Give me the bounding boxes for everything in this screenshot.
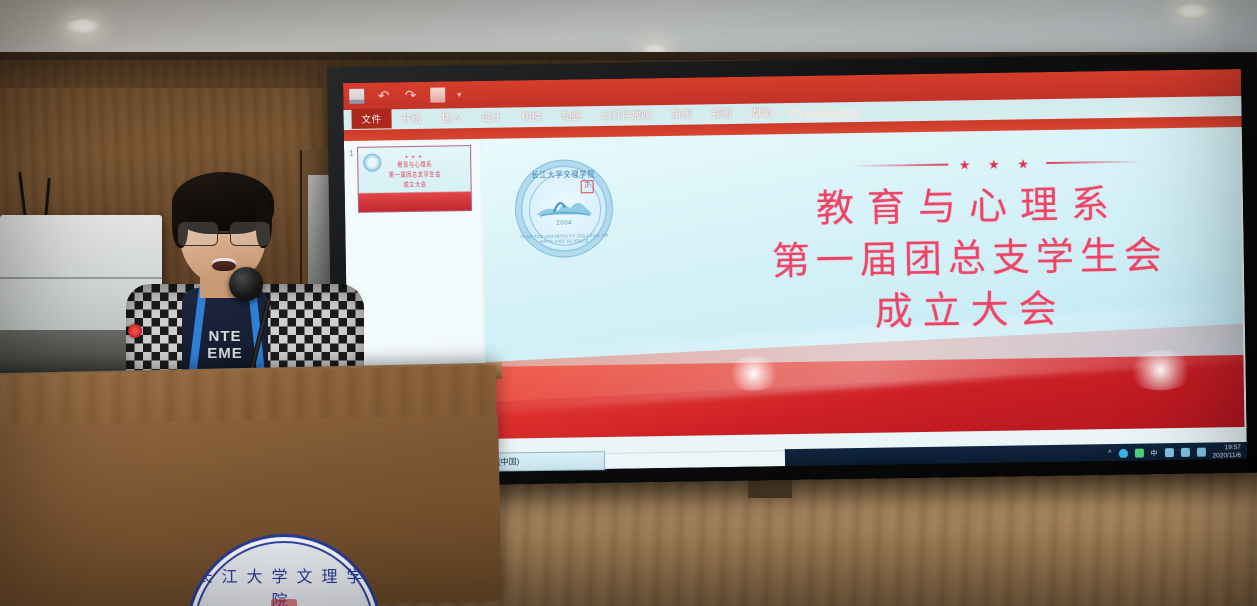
lapel-pin [128, 324, 142, 338]
decoration-line-right [1046, 161, 1142, 164]
decoration-line-left [853, 164, 949, 167]
emblem-english-name: YANGTZE UNIVERSITY COLLEGE OF ARTS AND S… [516, 233, 612, 245]
start-slideshow-icon[interactable] [430, 87, 445, 102]
volume-icon[interactable] [1180, 448, 1189, 457]
taskbar-date: 2020/11/6 [1212, 452, 1241, 460]
thumbnail-preview: ★ ★ ★ 教育与心理系 第一届团总支学生会 成立大会 [358, 146, 471, 212]
stage-block [748, 478, 792, 498]
thumbnail-stars: ★ ★ ★ [405, 154, 423, 159]
cloud-icon[interactable] [1118, 449, 1127, 458]
thumbnail-line2: 第一届团总支学生会 [359, 169, 471, 180]
undo-icon[interactable]: ↶ [376, 88, 391, 103]
slide-editing-area[interactable]: 长江大学文理学院 正 2004 YANGTZE UNIVERSITY COLLE… [480, 127, 1247, 455]
emblem-chinese-name: 长江大学文理学院 [515, 168, 611, 181]
thumbnail-line1: 教育与心理系 [359, 159, 471, 170]
slide-title-line3: 成立大会 [720, 275, 1221, 338]
microphone-head [229, 267, 263, 301]
emblem-bird-icon [534, 192, 594, 219]
glasses-lens-right [230, 222, 270, 246]
save-icon[interactable] [349, 88, 364, 103]
tshirt-text-line1: NTE [209, 328, 242, 345]
show-hidden-icons-icon[interactable]: ^ [1108, 450, 1111, 457]
chevron-down-icon[interactable]: ▾ [457, 87, 472, 102]
slide-canvas[interactable]: 长江大学文理学院 正 2004 YANGTZE UNIVERSITY COLLE… [482, 127, 1245, 439]
title-decoration: ★ ★ ★ [782, 153, 1212, 174]
ceiling-light [66, 19, 100, 34]
ime-icon[interactable]: 中 [1150, 448, 1157, 458]
action-center-icon[interactable] [1196, 448, 1205, 457]
tshirt-text-line2: EME [207, 345, 243, 362]
redo-icon[interactable]: ↷ [403, 87, 418, 102]
three-stars-icon: ★ ★ ★ [959, 157, 1036, 171]
display-icon[interactable] [1164, 448, 1173, 457]
system-tray[interactable]: ^ 中 19:57 2020/11/6 [1108, 444, 1241, 462]
emblem-year: 2004 [516, 220, 612, 228]
slide-thumbnail-1[interactable]: ★ ★ ★ 教育与心理系 第一届团总支学生会 成立大会 [357, 145, 472, 213]
glasses-lens-left [178, 222, 218, 246]
ceiling-light [1175, 4, 1209, 19]
ceiling [0, 0, 1257, 60]
network-icon[interactable] [1134, 449, 1143, 458]
glasses-bridge [216, 231, 230, 233]
university-emblem: 长江大学文理学院 正 2004 YANGTZE UNIVERSITY COLLE… [514, 159, 614, 259]
taskbar-clock[interactable]: 19:57 2020/11/6 [1212, 444, 1241, 460]
conference-hall-scene: ↶ ↷ ▾ 文件 开始 插入 设计 切换 动画 幻灯片放映 审阅 [0, 0, 1257, 606]
glasses [178, 222, 272, 244]
taskbar-time: 19:57 [1212, 444, 1241, 452]
podium-seal-mark [271, 599, 297, 606]
mouth [212, 258, 236, 271]
thumbnail-line3: 成立大会 [359, 179, 471, 190]
